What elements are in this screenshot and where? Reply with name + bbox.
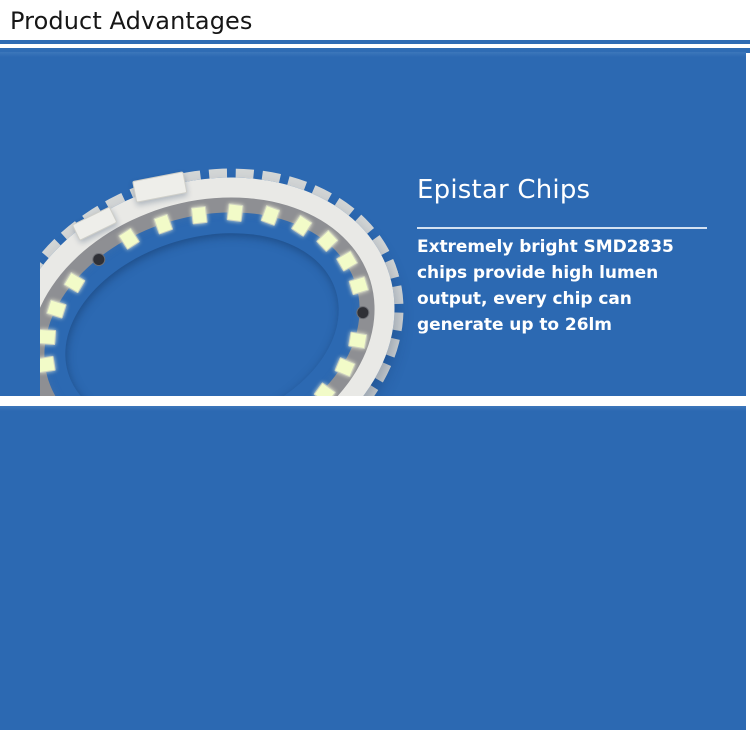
smd-led-chip bbox=[40, 356, 55, 373]
feature-panel-epistar-chips: Epistar Chips Extremely bright SMD2835 c… bbox=[0, 52, 746, 396]
smd-led-chip bbox=[191, 206, 208, 225]
led-ring-image bbox=[40, 120, 420, 396]
header-divider-thin bbox=[0, 40, 750, 44]
panel-body-text: Extremely bright SMD2835 chips provide h… bbox=[417, 234, 717, 338]
smd-led-chip bbox=[348, 331, 367, 349]
heading-underline bbox=[417, 227, 707, 229]
page-title: Product Advantages bbox=[10, 6, 253, 36]
panel-text-block-chips: Epistar Chips Extremely bright SMD2835 c… bbox=[417, 152, 717, 355]
panel-top-highlight bbox=[0, 406, 746, 411]
led-ring-assembly bbox=[40, 131, 420, 396]
panel-top-highlight bbox=[0, 52, 746, 57]
smd-led-chip bbox=[227, 203, 244, 222]
feature-panel-surface-treatment: Surface Treatment Very smooth surface ac… bbox=[0, 406, 746, 730]
smd-led-chip bbox=[40, 329, 56, 345]
panel-heading: Epistar Chips bbox=[417, 174, 717, 206]
